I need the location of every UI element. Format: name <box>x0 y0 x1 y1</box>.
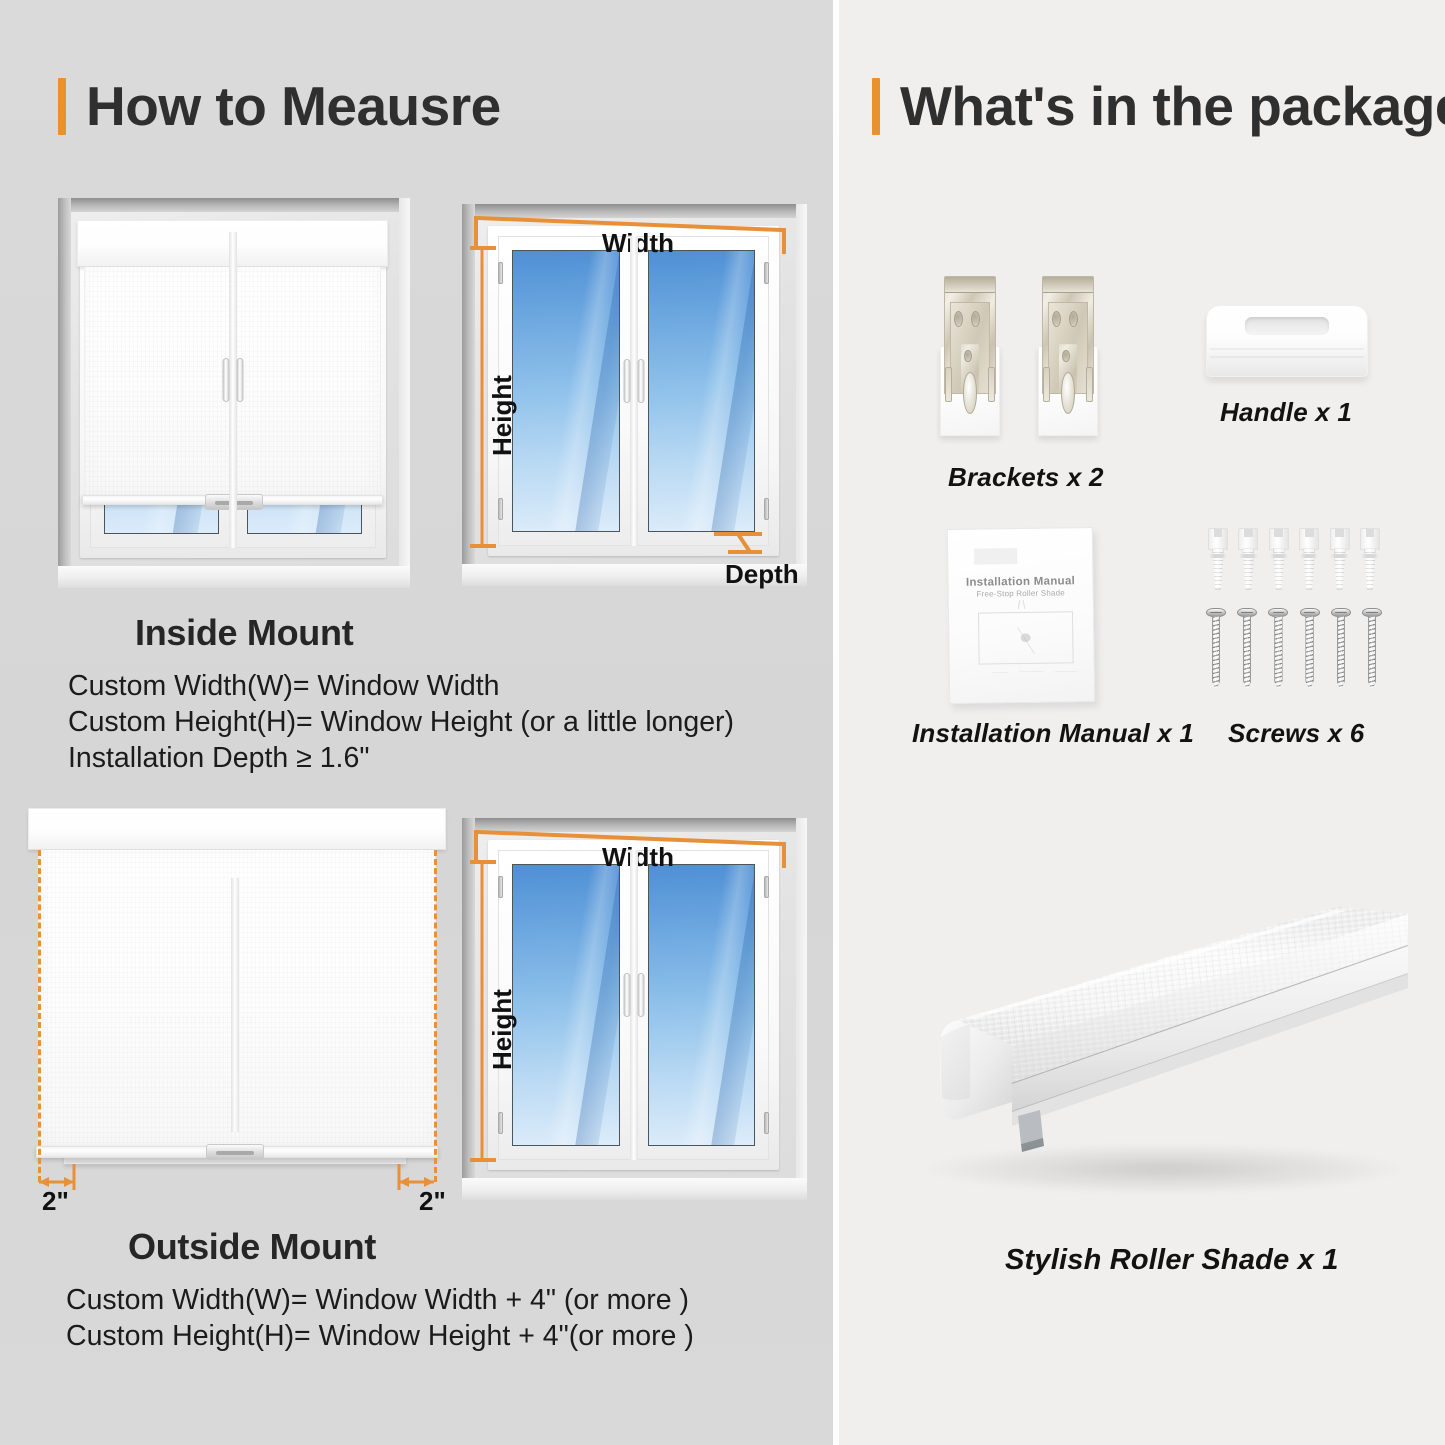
wall-anchor-icon <box>1208 528 1228 590</box>
window-handles-icon <box>623 973 644 1017</box>
manual-icon: Installation Manual Free-Stop Roller Sha… <box>947 527 1095 704</box>
outside-mount-measure-illustration: Width Height <box>462 818 807 1200</box>
inside-mount-title: Inside Mount <box>135 612 353 654</box>
inside-mount-shade-illustration <box>58 198 410 588</box>
anchor-head <box>1299 528 1319 550</box>
package-heading-text: What's in the package <box>900 79 1445 134</box>
bracket-hole <box>1062 350 1070 363</box>
wall-anchor-icon <box>1360 528 1380 590</box>
window-handles-icon <box>623 359 644 403</box>
brackets-label: Brackets x 2 <box>948 462 1104 493</box>
overhang-left-label: 2" <box>42 1186 69 1217</box>
bracket-slot <box>945 367 952 402</box>
handle-ridge <box>1210 348 1364 350</box>
bracket-slot <box>1043 367 1050 402</box>
anchor-head <box>1208 528 1228 550</box>
manual-footer-lines <box>993 668 1077 686</box>
spec-line: Custom Width(W)= Window Width <box>68 668 734 704</box>
anchor-rib <box>1270 554 1288 558</box>
wall-anchor-icon <box>1238 528 1258 590</box>
anchor-head <box>1330 528 1350 550</box>
spec-line: Custom Width(W)= Window Width + 4" (or m… <box>66 1282 694 1318</box>
spec-line: Custom Height(H)= Window Height (or a li… <box>68 704 734 740</box>
anchor-rib <box>1209 554 1227 558</box>
bracket-keyhole <box>1061 372 1075 414</box>
screw-head <box>1268 608 1288 617</box>
inside-mount-specs: Custom Width(W)= Window Width Custom Hei… <box>68 668 734 776</box>
anchor-head <box>1238 528 1258 550</box>
roller-shade-label: Stylish Roller Shade x 1 <box>1005 1244 1339 1277</box>
bracket-icon <box>1038 276 1098 436</box>
screw-shaft <box>1337 616 1345 690</box>
spec-line: Custom Height(H)= Window Height + 4"(or … <box>66 1318 694 1354</box>
anchor-rib <box>1239 554 1257 558</box>
handle-icon <box>1206 305 1368 377</box>
anchor-rib <box>1300 554 1318 558</box>
handle-ridge <box>1210 356 1364 358</box>
wall-anchor-icon <box>1330 528 1350 590</box>
wall-anchor-icon <box>1269 528 1289 590</box>
wall-anchor-group <box>1208 528 1380 590</box>
screw-icon <box>1206 608 1226 690</box>
recess-top-shadow <box>58 198 410 212</box>
anchor-rib <box>1330 554 1348 558</box>
infographic-page: How to Meausre What's in the package <box>0 0 1445 1445</box>
width-label: Width <box>602 842 674 873</box>
overhang-right-label: 2" <box>419 1186 446 1217</box>
roller-shade-icon <box>900 888 1408 1200</box>
screw-icon <box>1331 608 1351 690</box>
bracket-slot <box>1086 367 1093 402</box>
package-heading: What's in the package <box>872 78 1445 135</box>
height-label: Height <box>487 989 518 1070</box>
bracket-slot <box>988 367 995 402</box>
bracket-hole <box>964 350 972 363</box>
manual-figure-box <box>978 611 1074 664</box>
screw-head <box>1206 608 1226 617</box>
outside-mount-title: Outside Mount <box>128 1226 376 1268</box>
screw-shaft <box>1243 616 1251 690</box>
bracket-icon <box>940 276 1000 436</box>
spec-line: Installation Depth ≥ 1.6" <box>68 740 734 776</box>
manual-title: Installation Manual <box>948 575 1092 589</box>
screw-shaft <box>1368 616 1376 690</box>
screw-icon <box>1268 608 1288 690</box>
accent-bar-icon <box>58 78 66 135</box>
product-shadow <box>925 1144 1403 1194</box>
screw-head <box>1237 608 1257 617</box>
manual-subtitle: Free-Stop Roller Shade <box>949 588 1093 599</box>
wall-anchor-icon <box>1299 528 1319 590</box>
handle-label: Handle x 1 <box>1220 397 1352 428</box>
anchor-rib <box>1361 554 1379 558</box>
inside-mount-measure-illustration: Width Height Depth <box>462 204 807 586</box>
manual-top-block <box>974 548 1017 564</box>
screw-icon <box>1300 608 1320 690</box>
anchor-head <box>1269 528 1289 550</box>
screw-head <box>1300 608 1320 617</box>
how-to-measure-heading-text: How to Meausre <box>86 79 501 134</box>
screw-shaft <box>1305 616 1313 690</box>
window-handles-icon <box>223 358 244 402</box>
window-mullion <box>231 878 239 1132</box>
window-sill <box>58 566 410 588</box>
outside-mount-specs: Custom Width(W)= Window Width + 4" (or m… <box>66 1282 694 1354</box>
screw-head <box>1362 608 1382 617</box>
screws-label: Screws x 6 <box>1228 718 1364 749</box>
how-to-measure-heading: How to Meausre <box>58 78 501 135</box>
depth-label: Depth <box>725 559 799 590</box>
manual-scribble <box>996 600 1045 609</box>
screw-icon <box>1237 608 1257 690</box>
screw-shaft <box>1274 616 1282 690</box>
handle-grip-slot <box>1245 317 1328 335</box>
height-label: Height <box>487 375 518 456</box>
manual-label: Installation Manual x 1 <box>912 718 1194 749</box>
screw-shaft <box>1212 616 1220 690</box>
screw-head <box>1331 608 1351 617</box>
anchor-head <box>1360 528 1380 550</box>
screw-icon <box>1362 608 1382 690</box>
outside-mount-shade-illustration: 2" 2" <box>20 808 450 1208</box>
screw-group <box>1206 608 1382 690</box>
width-label: Width <box>602 228 674 259</box>
bracket-keyhole <box>963 372 977 414</box>
recess-right-edge <box>399 198 410 588</box>
recess-left-shadow <box>58 198 71 588</box>
accent-bar-icon <box>872 78 880 135</box>
